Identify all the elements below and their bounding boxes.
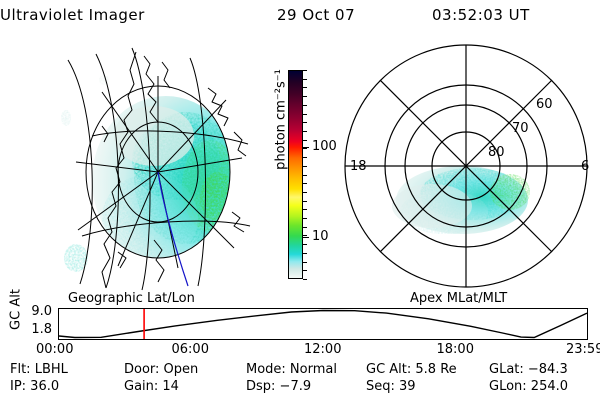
orbit-y-tick-label: 9.0 (18, 305, 52, 318)
colorbar-minor-tick (303, 105, 307, 106)
colorbar-minor-tick (303, 157, 307, 158)
colorbar-tick-label: 100 (312, 140, 337, 153)
apex-latitude-label: 80 (488, 145, 505, 160)
orbit-x-tick-label: 06:00 (172, 343, 209, 356)
colorbar-minor-tick (303, 122, 307, 123)
colorbar-tick-label: 10 (312, 230, 329, 243)
geographic-plot (58, 40, 250, 290)
orbit-trace (59, 309, 587, 339)
colorbar-minor-tick (303, 131, 307, 132)
colorbar-minor-tick (303, 166, 307, 167)
colorbar-minor-tick (303, 209, 307, 210)
status-gain: Gain: 14 (124, 379, 179, 394)
colorbar[interactable]: photon cm⁻²s⁻¹ 10010 (255, 60, 340, 295)
geographic-image-panel[interactable] (58, 40, 250, 290)
colorbar-major-tick (303, 147, 309, 148)
apex-plot: 126018 607080 (340, 42, 592, 292)
instrument-title: Ultraviolet Imager (0, 6, 145, 24)
apex-panel-caption: Apex MLat/MLT (410, 291, 507, 306)
colorbar-gradient (289, 71, 302, 278)
status-ip: IP: 36.0 (10, 379, 59, 394)
colorbar-minor-tick (303, 201, 307, 202)
apex-dial-grid (345, 45, 587, 287)
colorbar-minor-tick (303, 218, 307, 219)
status-flt: Flt: LBHL (10, 362, 68, 377)
colorbar-minor-tick (303, 79, 307, 80)
colorbar-minor-tick (303, 227, 307, 228)
status-glat: GLat: −84.3 (489, 362, 568, 377)
status-mode: Mode: Normal (246, 362, 337, 377)
colorbar-minor-tick (303, 270, 307, 271)
status-seq: Seq: 39 (366, 379, 416, 394)
colorbar-minor-tick (303, 96, 307, 97)
colorbar-major-tick (303, 237, 309, 238)
colorbar-minor-tick (303, 262, 307, 263)
observation-time: 03:52:03 UT (432, 6, 530, 24)
colorbar-minor-tick (303, 87, 307, 88)
apex-latitude-label: 60 (536, 97, 553, 112)
colorbar-axis-label: photon cm⁻²s⁻¹ (274, 50, 289, 190)
status-dsp: Dsp: −7.9 (246, 379, 311, 394)
colorbar-minor-tick (303, 148, 307, 149)
colorbar-minor-tick (303, 114, 307, 115)
status-panel: Flt: LBHL IP: 36.0 Door: Open Gain: 14 M… (0, 362, 600, 398)
header-bar: Ultraviolet Imager 29 Oct 07 03:52:03 UT (0, 6, 600, 30)
orbit-plot-frame (58, 308, 588, 340)
apex-mlt-label: 6 (581, 159, 589, 174)
status-glon: GLon: 254.0 (489, 379, 568, 394)
orbit-x-tick-label: 00:00 (36, 343, 73, 356)
apex-mlt-labels: 126018 (350, 44, 600, 286)
status-gc-alt: GC Alt: 5.8 Re (366, 362, 457, 377)
colorbar-minor-tick (303, 279, 307, 280)
colorbar-scale[interactable] (288, 70, 303, 279)
colorbar-minor-tick (303, 70, 307, 71)
orbit-altitude-plot[interactable]: GC Alt 9.01.8 00:0006:0012:0018:0023:59 (0, 306, 600, 356)
geographic-panel-caption: Geographic Lat/Lon (68, 291, 195, 306)
colorbar-minor-tick (303, 244, 307, 245)
colorbar-minor-tick (303, 192, 307, 193)
apex-latitude-label: 70 (512, 121, 529, 136)
orbit-x-tick-label: 12:00 (304, 343, 341, 356)
colorbar-minor-tick (303, 253, 307, 254)
orbit-x-tick-label: 23:59 (566, 343, 600, 356)
orbit-x-tick-label: 18:00 (437, 343, 474, 356)
orbit-y-tick-label: 1.8 (18, 323, 52, 336)
apex-dial-panel[interactable]: 126018 607080 (340, 42, 592, 292)
colorbar-minor-tick (303, 175, 307, 176)
colorbar-minor-tick (303, 140, 307, 141)
status-door: Door: Open (124, 362, 198, 377)
apex-mlt-label: 18 (350, 159, 367, 174)
observation-date: 29 Oct 07 (277, 6, 355, 24)
colorbar-minor-tick (303, 183, 307, 184)
